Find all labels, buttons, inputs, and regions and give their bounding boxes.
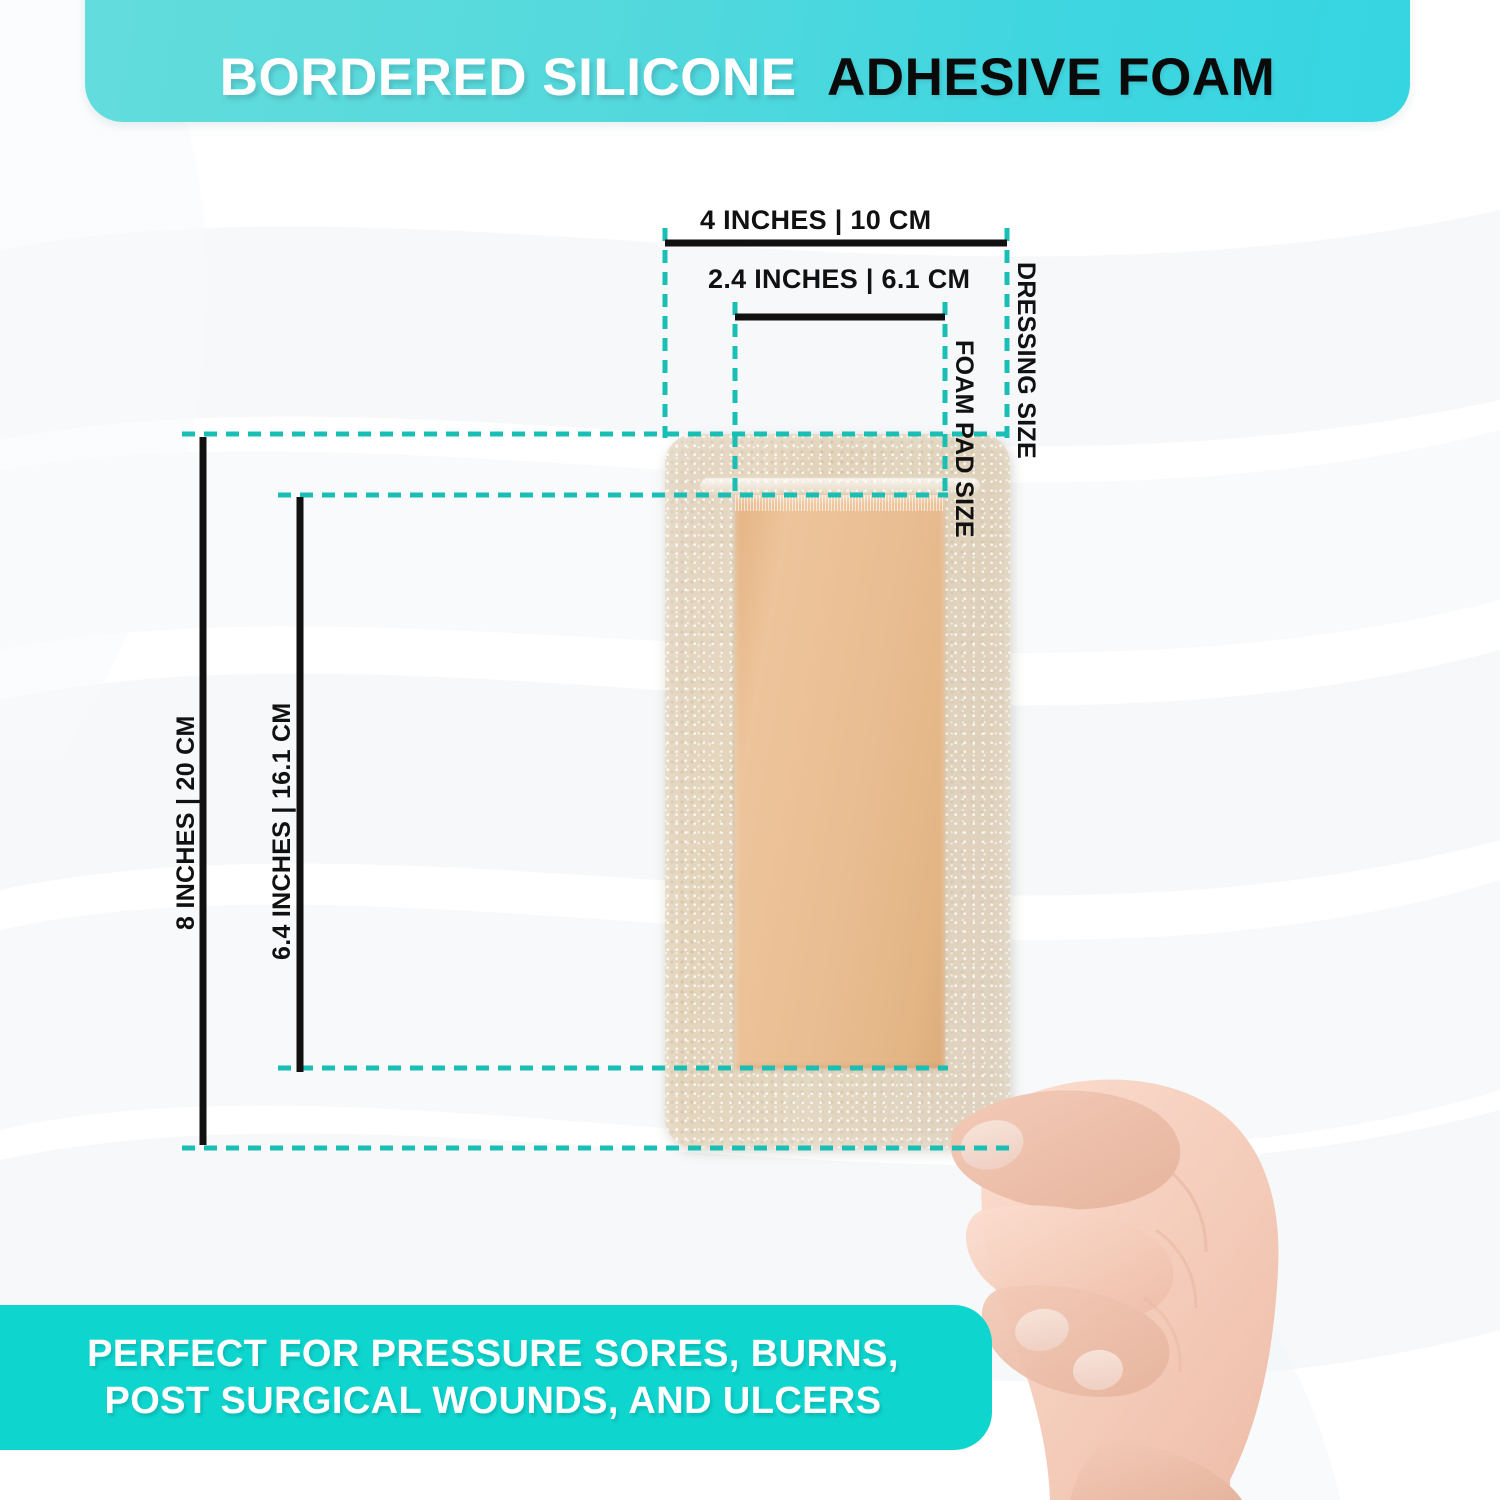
footer-line-2: POST SURGICAL WOUNDS, AND ULCERS	[70, 1378, 881, 1424]
foam-pad	[735, 495, 945, 1068]
header-banner: BORDERED SILICONE ADHESIVE FOAM	[85, 0, 1410, 122]
foam-pad-top-edge	[735, 495, 945, 511]
infographic-canvas: BORDERED SILICONE ADHESIVE FOAM	[0, 0, 1500, 1500]
header-title-secondary: ADHESIVE FOAM	[827, 48, 1275, 107]
footer-banner: PERFECT FOR PRESSURE SORES, BURNS, POST …	[0, 1305, 992, 1450]
hand-holding-product	[930, 1020, 1350, 1500]
header-title-primary: BORDERED SILICONE	[220, 48, 797, 107]
header-title-gap	[797, 48, 827, 107]
page-title: BORDERED SILICONE ADHESIVE FOAM	[220, 51, 1275, 104]
footer-line-1: PERFECT FOR PRESSURE SORES, BURNS,	[53, 1331, 899, 1377]
dressing-seam-highlight	[700, 478, 980, 494]
